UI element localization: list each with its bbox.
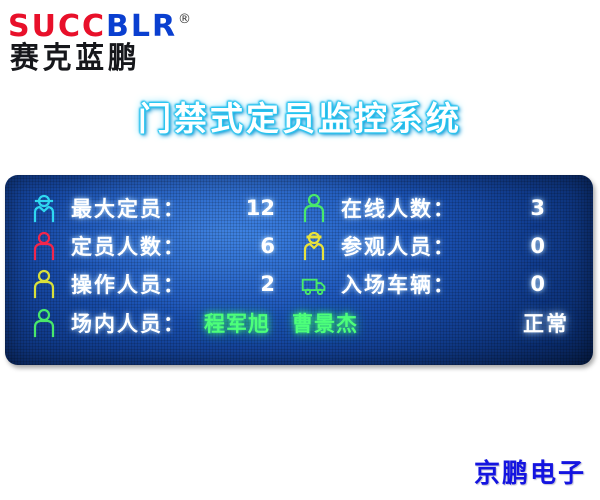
person-green-icon [31,308,57,338]
led-row: 最大定员： 12 在线人数： 3 [5,189,593,227]
footer-brand-mark: 京鹏电子 [474,453,586,490]
led-field-onsite-personnel: 场内人员： [31,308,186,338]
led-field-operator-count: 操作人员： 2 [31,269,299,299]
led-row: 操作人员： 2 入场车辆： 0 [5,265,593,303]
person-yellow-icon [31,269,57,299]
led-field-online-count: 在线人数： 3 [301,193,569,223]
company-logo: SUCCBLR ® 赛克蓝鹏 [8,8,238,78]
led-row-onsite: 场内人员： 程军旭 曹景杰 正常 [5,303,593,343]
registered-trademark-icon: ® [178,12,191,27]
logo-wordmark-red: SUCC [8,9,106,44]
person-cap-yellow-icon [301,231,327,261]
led-label: 参观人员： [341,231,456,261]
led-field-vehicle-count: 入场车辆： 0 [301,269,569,299]
led-value: 6 [260,234,275,258]
led-value: 12 [246,196,275,220]
led-field-max-capacity: 最大定员： 12 [31,193,299,223]
page-title: 门禁式定员监控系统 [0,92,600,140]
led-value: 0 [530,272,545,296]
led-label: 在线人数： [341,193,456,223]
onsite-names-list: 程军旭 曹景杰 [204,308,523,338]
led-label: 入场车辆： [341,269,456,299]
led-value: 0 [530,234,545,258]
status-badge: 正常 [523,308,569,338]
logo-wordmark-blue: BLR [106,9,177,44]
led-value: 2 [260,272,275,296]
led-rows-container: 最大定员： 12 在线人数： 3 [5,175,593,365]
logo-chinese-name: 赛克蓝鹏 [10,42,141,75]
led-label: 定员人数： [71,231,186,261]
led-label: 场内人员： [71,308,186,338]
led-row: 定员人数： 6 参观人员： 0 [5,227,593,265]
person-green-icon [301,193,327,223]
led-value: 3 [530,196,545,220]
logo-wordmark: SUCCBLR [8,12,177,42]
onsite-name: 曹景杰 [292,308,358,338]
led-display-panel: 最大定员： 12 在线人数： 3 [5,175,593,365]
truck-green-icon [301,269,327,299]
led-label: 操作人员： [71,269,186,299]
led-label: 最大定员： [71,193,186,223]
led-field-visitor-count: 参观人员： 0 [301,231,569,261]
person-red-icon [31,231,57,261]
led-field-quota-count: 定员人数： 6 [31,231,299,261]
onsite-name: 程军旭 [204,308,270,338]
person-cap-cyan-icon [31,193,57,223]
